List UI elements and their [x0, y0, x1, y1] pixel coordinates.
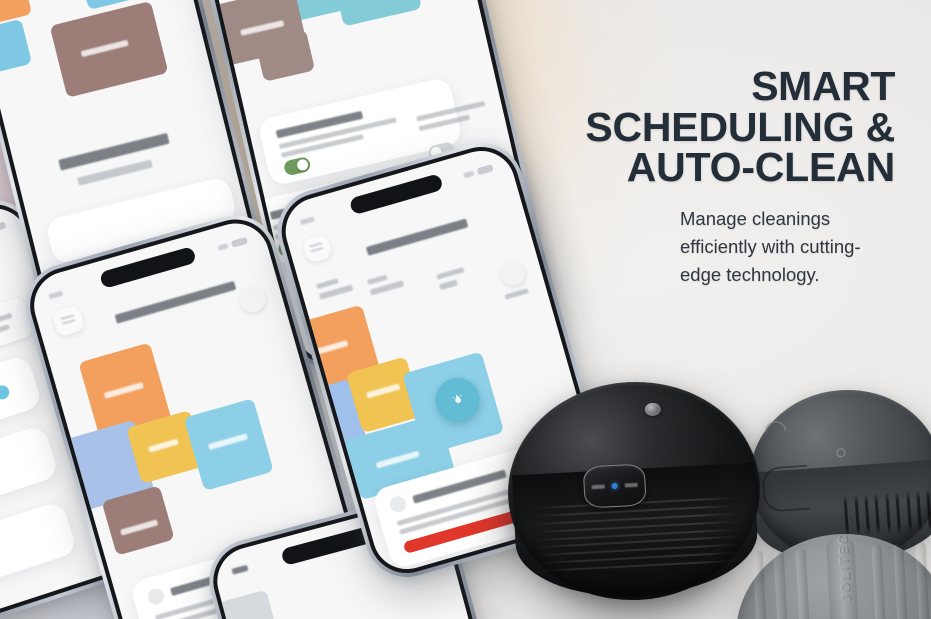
vacuum-black[interactable]: [502, 376, 765, 607]
map-tile-hall[interactable]: [210, 590, 291, 619]
spray-icon: [447, 389, 468, 410]
status-signal: [217, 243, 228, 251]
toggle-daily-deep-cleaning[interactable]: [283, 156, 312, 176]
phone-top-left-title: [58, 133, 169, 171]
menu-button[interactable]: [302, 233, 334, 263]
map-tile-bathroom[interactable]: [0, 19, 32, 78]
status-time: [300, 216, 315, 225]
status-time: [231, 565, 248, 575]
phone-lower-center-title: [115, 281, 237, 324]
status-signal: [463, 170, 474, 178]
toggle-knob: [296, 158, 309, 171]
list-item[interactable]: [0, 500, 78, 604]
floor-map[interactable]: [0, 0, 213, 125]
stat-coverage-label: [367, 275, 388, 285]
poster-canvas: JOLITEC SMART SCHEDULING & AUTO-CLEAN Ma: [0, 0, 931, 619]
battery-icon: [0, 221, 6, 233]
battery-icon: [476, 164, 493, 175]
headline-line-1: SMART: [573, 66, 895, 107]
clock-icon: [146, 587, 166, 607]
stat-duration-label: [316, 278, 339, 289]
status-time: [48, 290, 63, 299]
page-title: SMART SCHEDULING & AUTO-CLEAN: [573, 66, 895, 188]
headline-line-2: SCHEDULING &: [573, 107, 895, 148]
map-tile-bathroom[interactable]: [329, 0, 422, 27]
menu-button[interactable]: [51, 305, 85, 338]
subcopy: Manage cleanings efficiently with cuttin…: [680, 205, 895, 289]
copy-block: SMART SCHEDULING & AUTO-CLEAN Manage cle…: [573, 66, 895, 289]
target-icon: [388, 494, 408, 514]
phone-center-right-title: [366, 218, 468, 255]
battery-icon: [231, 236, 248, 247]
headline-line-3: AUTO-CLEAN: [573, 147, 895, 188]
